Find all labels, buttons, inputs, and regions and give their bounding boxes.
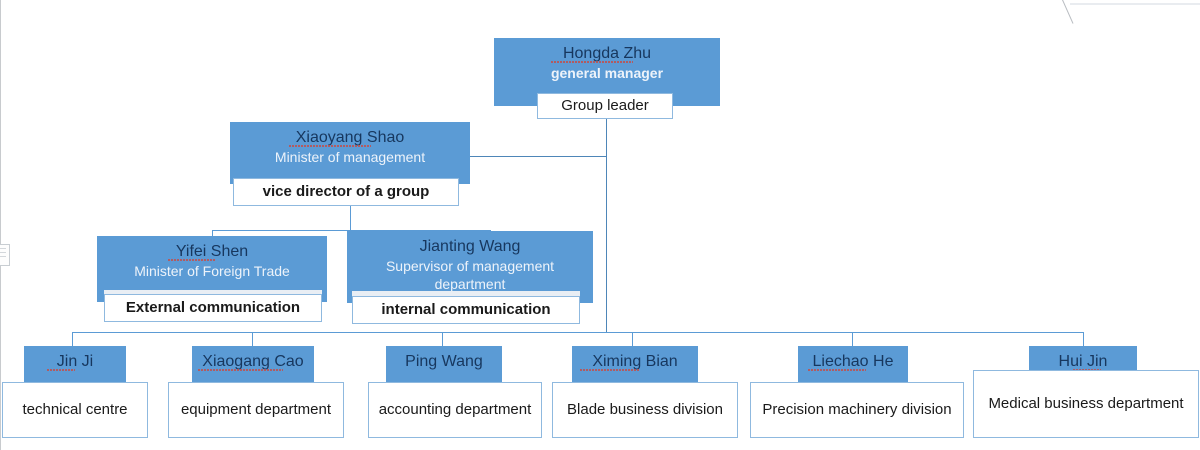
- department-3-caption[interactable]: Blade business division: [552, 382, 738, 438]
- vice-director-role: Minister of management: [269, 148, 431, 166]
- spellcheck-underline-icon: [551, 61, 633, 63]
- connector-drop-dept-5: [1083, 332, 1084, 346]
- department-2-name: Ping Wang: [405, 352, 483, 372]
- page-top-rule: [1070, 3, 1200, 5]
- spellcheck-underline-icon: [289, 145, 371, 147]
- connector-department-bus: [72, 332, 1084, 333]
- department-2-title-box[interactable]: Ping Wang: [386, 346, 502, 382]
- connector-drop-dept-4: [852, 332, 853, 346]
- page-side-marker: [0, 244, 10, 266]
- spellcheck-underline-icon: [168, 259, 215, 261]
- department-0-caption[interactable]: technical centre: [2, 382, 148, 438]
- department-1-title-box[interactable]: Xiaogang Cao: [192, 346, 314, 382]
- spellcheck-underline-icon: [580, 369, 640, 371]
- mgmt-supervisor-role: Supervisor of management department: [347, 257, 593, 293]
- connector-drop-dept-0: [72, 332, 73, 346]
- vice-director-caption[interactable]: vice director of a group: [233, 178, 459, 206]
- connector-drop-dept-2: [442, 332, 443, 346]
- general-manager-caption[interactable]: Group leader: [537, 93, 673, 119]
- department-5-caption[interactable]: Medical business department: [973, 370, 1199, 438]
- department-4-caption[interactable]: Precision machinery division: [750, 382, 964, 438]
- foreign-trade-caption[interactable]: External communication: [104, 294, 322, 322]
- department-1-caption[interactable]: equipment department: [168, 382, 344, 438]
- department-2-caption[interactable]: accounting department: [368, 382, 542, 438]
- spellcheck-underline-icon: [198, 369, 283, 371]
- page-edge-line: [0, 0, 1, 450]
- connector-drop-dept-3: [632, 332, 633, 346]
- vice-director-title-box[interactable]: Xiaoyang Shao Minister of management: [230, 122, 470, 184]
- connector-trunk-vertical: [606, 118, 607, 333]
- connector-drop-dept-1: [252, 332, 253, 346]
- department-3-title-box[interactable]: Ximing Bian: [572, 346, 698, 382]
- spellcheck-underline-icon: [808, 369, 866, 371]
- foreign-trade-role: Minister of Foreign Trade: [128, 262, 296, 280]
- mgmt-supervisor-name: Jianting Wang: [420, 237, 521, 257]
- mgmt-supervisor-caption[interactable]: internal communication: [352, 296, 580, 324]
- general-manager-role: general manager: [545, 64, 669, 82]
- department-4-title-box[interactable]: Liechao He: [798, 346, 908, 382]
- connector-ceo-to-vice: [468, 156, 607, 157]
- spellcheck-underline-icon: [47, 369, 75, 371]
- department-0-title-box[interactable]: Jin Ji: [24, 346, 126, 382]
- org-chart-canvas: Hongda Zhu general manager Group leader …: [0, 0, 1200, 450]
